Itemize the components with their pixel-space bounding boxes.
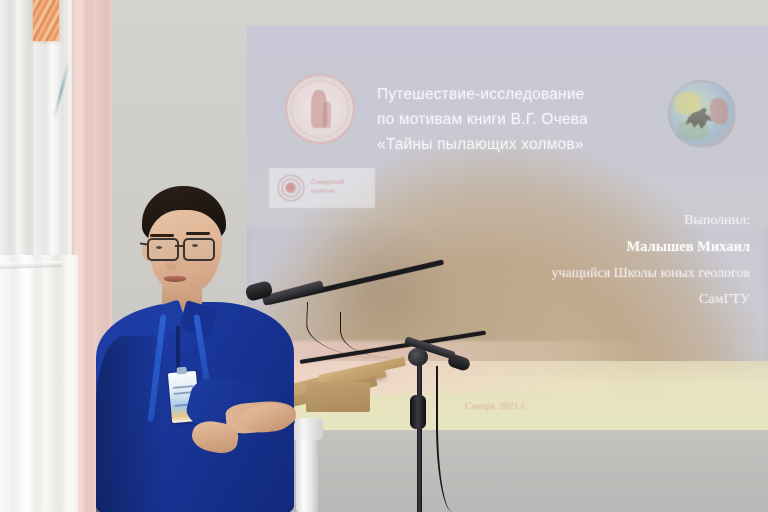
badge-clip <box>176 367 187 375</box>
microphone-stand-clutch-2 <box>410 395 426 429</box>
presenter-mouth <box>164 276 186 282</box>
badge-line-1 <box>173 385 193 389</box>
slide-title-line-1: Путешествие-исследование <box>377 82 667 107</box>
glasses-temple <box>140 242 148 245</box>
microphone-stand-pole-2 <box>417 352 422 512</box>
glasses-lens-right <box>183 238 215 261</box>
polytech-logo-text: Самарский политех <box>311 179 344 197</box>
slide-title-line-3: «Тайны пылающих холмов» <box>377 132 667 157</box>
author-label: Выполнил: <box>420 208 750 234</box>
presenter-glasses <box>145 238 225 258</box>
globe-dinosaur-logo <box>668 80 736 148</box>
globe-landmass-b <box>710 98 728 124</box>
sheer-curtain-lower <box>0 255 78 512</box>
presenter-brow-left <box>150 234 174 237</box>
author-name: Малышев Михаил <box>420 234 750 261</box>
slide-title: Путешествие-исследование по мотивам книг… <box>377 82 667 157</box>
presenter <box>96 186 296 512</box>
copper-decor-element <box>33 0 59 41</box>
projection-screen: Самарский политех Путешествие-исследован… <box>247 26 768 430</box>
lectern-bracket-block <box>306 382 370 412</box>
globe-landmass-a <box>674 92 700 114</box>
author-role: учащийся Школы юных геологов <box>420 261 750 287</box>
presentation-slide: Самарский политех Путешествие-исследован… <box>247 26 768 430</box>
glasses-bridge <box>175 245 185 247</box>
presentation-photo: Самарский политех Путешествие-исследован… <box>0 0 768 512</box>
author-organization: СамГТУ <box>420 287 750 313</box>
geologist-tool-icon <box>323 102 331 128</box>
glasses-lens-left <box>147 238 179 261</box>
slide-footer: Самара, 2021 г. <box>465 402 526 412</box>
presenter-brow-right <box>186 232 210 235</box>
lectern-stand-pole <box>296 430 318 512</box>
slide-title-line-2: по мотивам книги В.Г. Очева <box>377 107 667 132</box>
slide-author-block: Выполнил: Малышев Михаил учащийся Школы … <box>420 208 750 312</box>
school-of-young-geologists-logo <box>285 74 355 144</box>
